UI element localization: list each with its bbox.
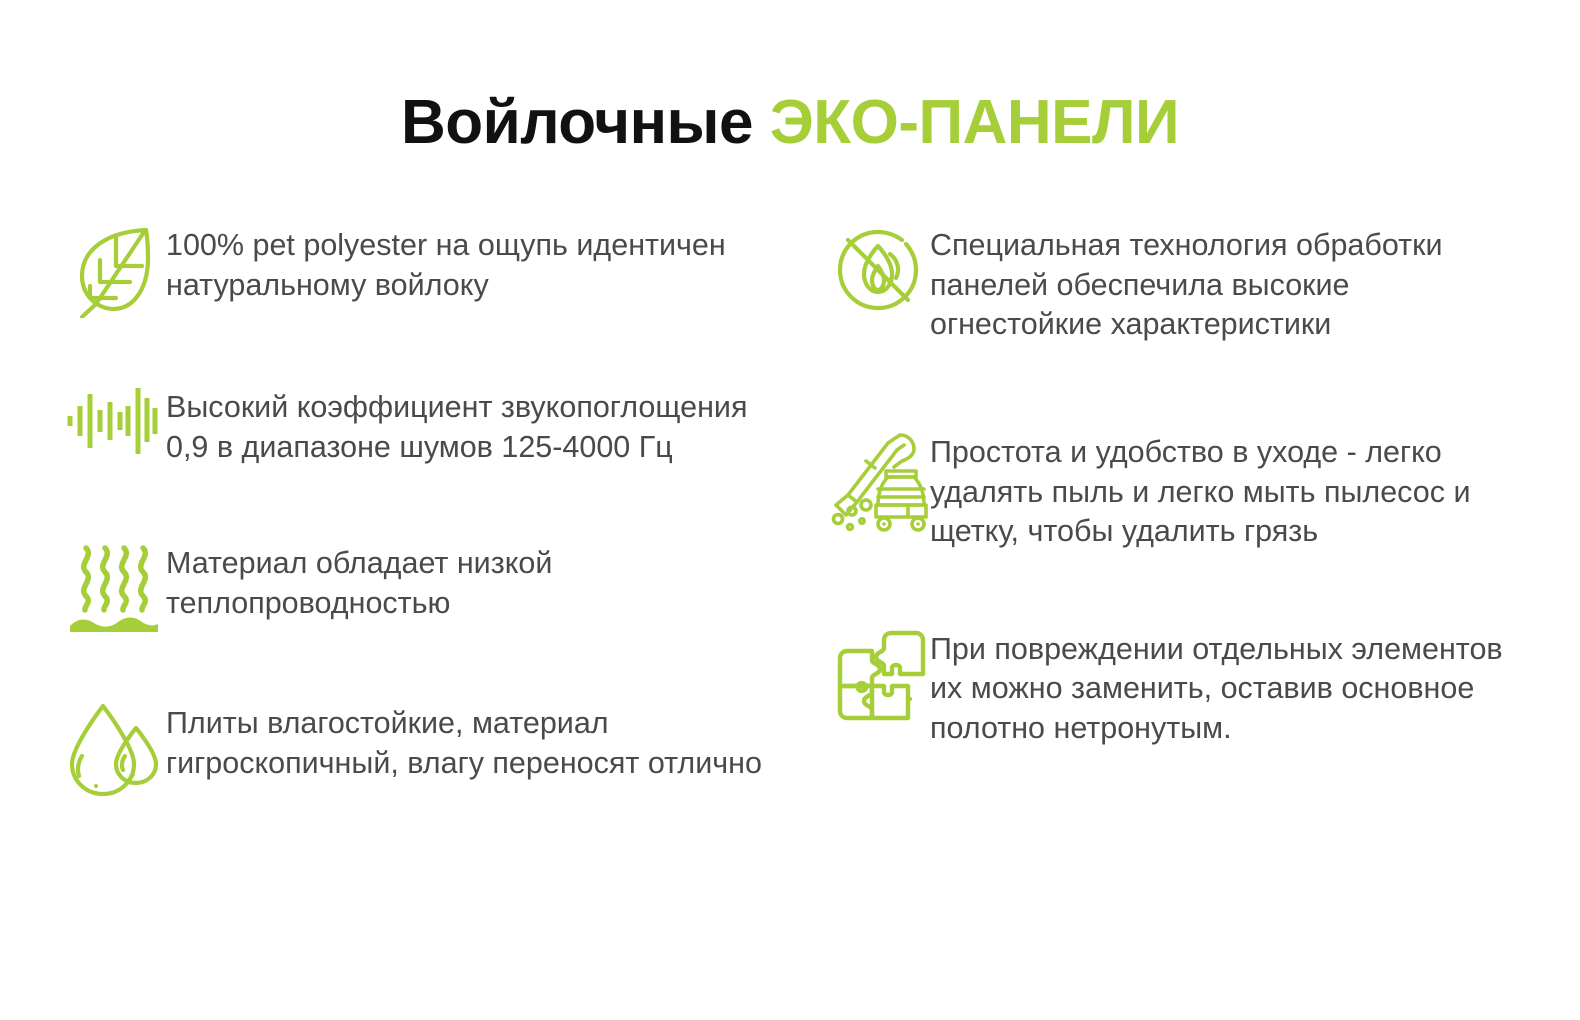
feature-item: При повреждении отдельных элементов их м… [826,624,1580,749]
page-title-part-black: Войлочные [401,88,753,157]
features-column-right: Специальная технология обработки панелей… [0,220,1580,856]
page-header: Войлочные ЭКО-ПАНЕЛИ [0,0,1580,155]
feature-text: Простота и удобство в уходе - легко удал… [930,427,1525,552]
features-grid: 100% pet polyester на ощупь идентичен на… [0,220,1580,856]
page-title: Войлочные ЭКО-ПАНЕЛИ [0,90,1580,155]
no-fire-icon [826,220,930,324]
page-title-part-green: ЭКО-ПАНЕЛИ [770,88,1179,157]
feature-text: При повреждении отдельных элементов их м… [930,624,1525,749]
feature-item: Простота и удобство в уходе - легко удал… [826,427,1580,552]
feature-item: Специальная технология обработки панелей… [826,220,1580,345]
vacuum-cleaner-icon [826,427,930,531]
puzzle-pieces-icon [826,624,930,728]
feature-text: Специальная технология обработки панелей… [930,220,1525,345]
